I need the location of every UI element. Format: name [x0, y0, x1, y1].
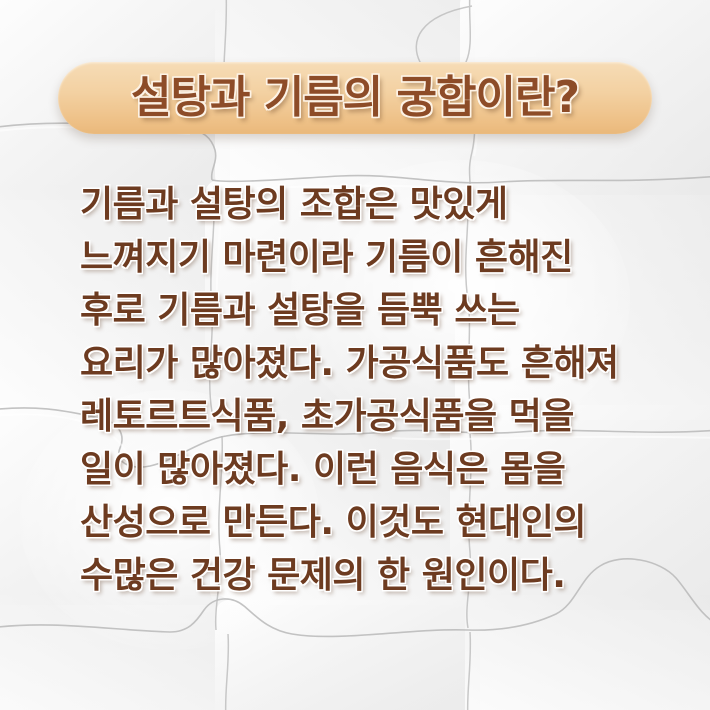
body-line: 요리가 많아졌다. 가공식품도 흔해져: [80, 337, 680, 390]
page-title: 설탕과 기름의 궁합이란?: [131, 76, 579, 120]
body-line: 느껴지기 마련이라 기름이 흔해진: [80, 231, 680, 284]
body-line: 일이 많아졌다. 이런 음식은 몸을: [80, 443, 680, 496]
title-banner: 설탕과 기름의 궁합이란?: [58, 62, 652, 134]
body-line: 수많은 건강 문제의 한 원인이다.: [80, 549, 680, 602]
body-line: 후로 기름과 설탕을 듬뿍 쓰는: [80, 284, 680, 337]
body-line: 레토르트식품, 초가공식품을 먹을: [80, 390, 680, 443]
body-text-block: 기름과 설탕의 조합은 맛있게 느껴지기 마련이라 기름이 흔해진 후로 기름과…: [80, 178, 680, 602]
body-line: 기름과 설탕의 조합은 맛있게: [80, 178, 680, 231]
info-card: 설탕과 기름의 궁합이란? 기름과 설탕의 조합은 맛있게 느껴지기 마련이라 …: [0, 0, 710, 710]
body-line: 산성으로 만든다. 이것도 현대인의: [80, 496, 680, 549]
